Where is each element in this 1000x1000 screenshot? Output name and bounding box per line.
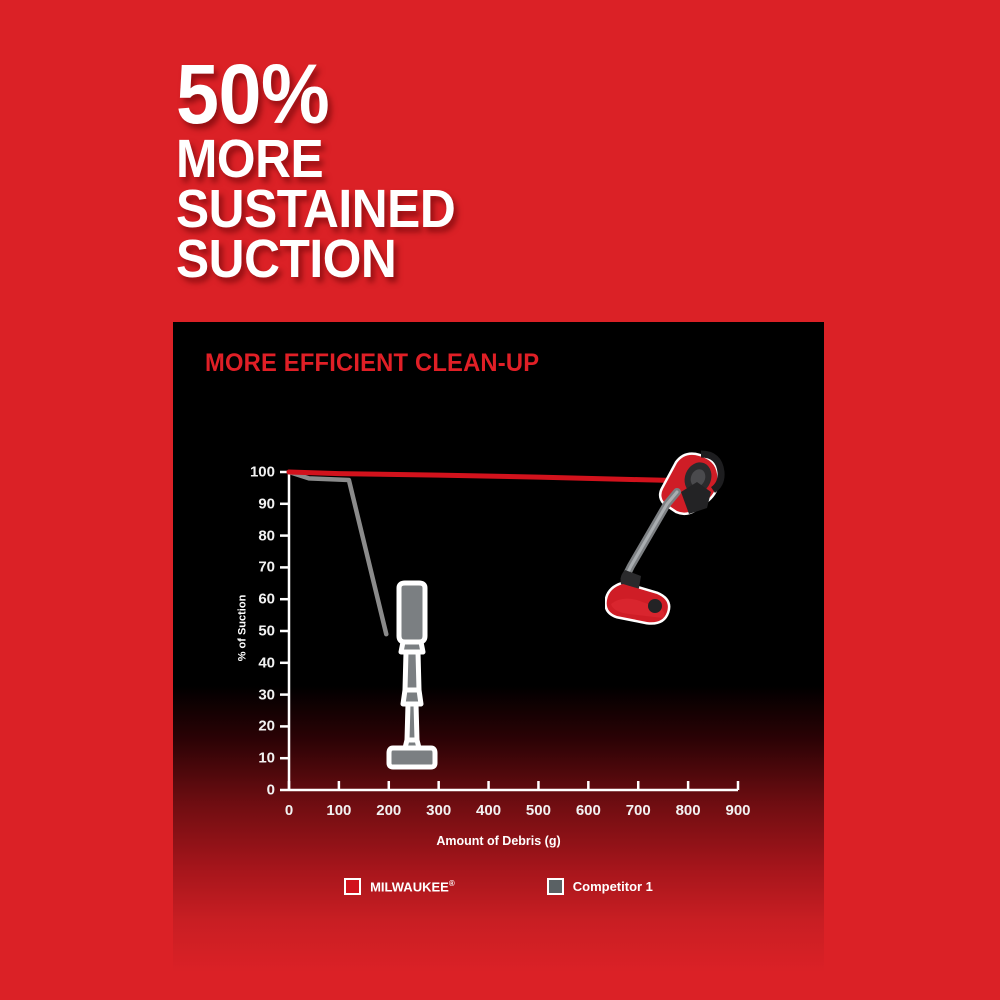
y-tick-label: 20 xyxy=(227,718,275,735)
x-axis-ticks xyxy=(289,781,738,790)
y-tick-label: 50 xyxy=(227,623,275,640)
headline-line-4: SUCTION xyxy=(176,235,691,285)
legend-swatch-competitor-1 xyxy=(547,878,564,895)
y-tick-label: 0 xyxy=(227,782,275,799)
chart-svg xyxy=(173,322,824,972)
x-tick-label: 0 xyxy=(285,802,293,819)
chart-legend: MILWAUKEE® Competitor 1 xyxy=(173,878,824,895)
y-tick-label: 90 xyxy=(227,495,275,512)
x-tick-label: 800 xyxy=(676,802,701,819)
legend-label-competitor-1: Competitor 1 xyxy=(573,879,653,894)
x-tick-label: 400 xyxy=(476,802,501,819)
headline-block: 50% MORE SUSTAINED SUCTION xyxy=(176,56,736,284)
headline-line-2: MORE xyxy=(176,135,691,185)
y-tick-label: 60 xyxy=(227,591,275,608)
y-axis-ticks xyxy=(280,472,289,790)
headline-line-3: SUSTAINED xyxy=(176,185,691,235)
legend-swatch-milwaukee xyxy=(344,878,361,895)
y-axis-label: % of Suction xyxy=(236,595,248,662)
y-tick-label: 80 xyxy=(227,527,275,544)
legend-item-milwaukee[interactable]: MILWAUKEE® xyxy=(344,878,455,895)
legend-label-milwaukee: MILWAUKEE® xyxy=(370,879,455,894)
y-tick-label: 30 xyxy=(227,686,275,703)
x-tick-label: 600 xyxy=(576,802,601,819)
legend-item-competitor-1[interactable]: Competitor 1 xyxy=(547,878,653,895)
legend-label-milwaukee-text: MILWAUKEE xyxy=(370,879,449,894)
y-tick-label: 10 xyxy=(227,750,275,767)
x-tick-label: 500 xyxy=(526,802,551,819)
competitor-vacuum-image xyxy=(381,580,443,770)
series-line-competitor-1 xyxy=(289,472,386,634)
x-axis-label: Amount of Debris (g) xyxy=(173,834,824,848)
milwaukee-vacuum-image xyxy=(605,444,725,644)
x-tick-label: 200 xyxy=(376,802,401,819)
chart-panel: MORE EFFICIENT CLEAN-UP 0102030405060708… xyxy=(173,322,824,972)
registered-mark-icon: ® xyxy=(449,879,455,888)
y-tick-label: 100 xyxy=(227,464,275,481)
x-tick-label: 900 xyxy=(725,802,750,819)
x-tick-label: 300 xyxy=(426,802,451,819)
x-tick-label: 100 xyxy=(326,802,351,819)
plot-area: 0102030405060708090100 01002003004005006… xyxy=(173,322,824,972)
y-tick-label: 70 xyxy=(227,559,275,576)
y-tick-label: 40 xyxy=(227,654,275,671)
x-tick-label: 700 xyxy=(626,802,651,819)
headline-line-1: 50% xyxy=(176,56,691,133)
